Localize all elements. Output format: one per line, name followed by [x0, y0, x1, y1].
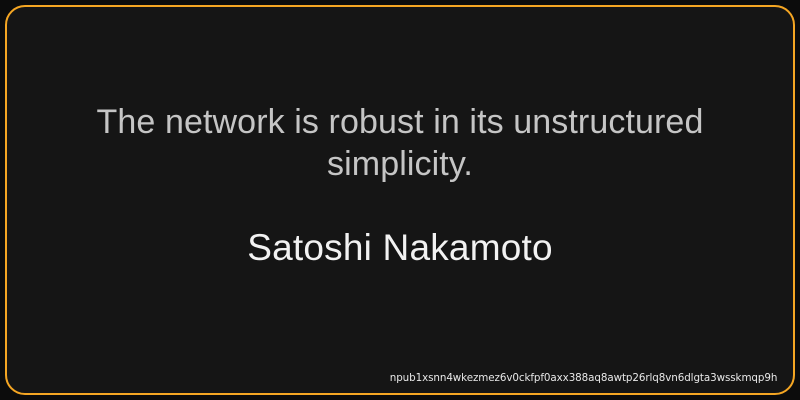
npub-identifier[interactable]: npub1xsnn4wkezmez6v0ckfpf0axx388aq8awtp2… [389, 371, 777, 385]
quote-block: The network is robust in its unstructure… [59, 101, 741, 271]
quote-text: The network is robust in its unstructure… [59, 101, 741, 185]
quote-author: Satoshi Nakamoto [59, 225, 741, 271]
npub-footer: npub1xsnn4wkezmez6v0ckfpf0axx388aq8awtp2… [365, 368, 777, 386]
quote-card-content: The network is robust in its unstructure… [7, 7, 793, 393]
quote-card: The network is robust in its unstructure… [5, 5, 795, 395]
